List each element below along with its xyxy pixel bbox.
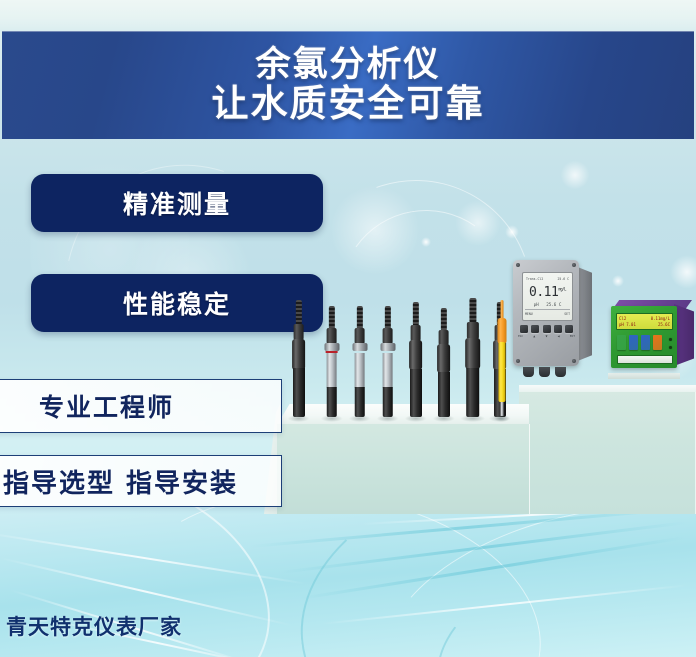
bokeh-dot: [505, 225, 519, 239]
controller-key-4[interactable]: [653, 335, 662, 350]
info-box-engineer[interactable]: 专业工程师: [0, 379, 282, 433]
top-strip: [0, 0, 696, 31]
probe-5[interactable]: [408, 302, 423, 418]
lcd-top-right: 25.6 C: [557, 277, 569, 281]
controller-label-slot: [617, 355, 673, 364]
lcd-row2-right: 25.6 C: [546, 302, 561, 307]
gc-lcd-line1-left: Cl2: [619, 316, 626, 321]
probe-part: [320, 415, 343, 422]
probe-part: [356, 306, 362, 330]
controller-face: Cl2 0.11mg/L pH 7.01 25.6C: [611, 306, 677, 368]
controller-led-group: [669, 338, 672, 349]
probe-part: [326, 328, 337, 344]
info-box-label: 指导选型 指导安装: [0, 463, 238, 500]
led-indicator-icon: [669, 338, 672, 341]
screw-icon: [516, 359, 520, 363]
lcd-row2-left: pH: [534, 302, 539, 307]
probe-part: [295, 300, 301, 325]
probe-part: [409, 340, 423, 370]
probe-part: [432, 415, 455, 422]
probe-4[interactable]: [380, 306, 395, 418]
transmitter-key-◀[interactable]: [554, 325, 562, 333]
probe-part: [382, 353, 393, 388]
probe-part: [437, 344, 451, 373]
transmitter-key-label: ▲: [533, 335, 535, 338]
probe-part: [352, 343, 367, 351]
probe-part: [465, 338, 481, 369]
controller-base: [608, 373, 680, 379]
cable-gland-icon: [523, 367, 534, 377]
lcd-bottom-left: MENU: [525, 312, 533, 316]
transmitter-face: Trans.Cl2 25.6 C 0.11mg/L pH 25.6 C MENU…: [513, 260, 579, 366]
badge-label: 精准测量: [123, 185, 231, 221]
cable-gland-icon: [555, 367, 566, 377]
cable-gland-icon: [539, 367, 550, 377]
probe-part: [495, 415, 510, 422]
transmitter-key-ent[interactable]: [565, 325, 573, 333]
info-box-label: 专业工程师: [0, 388, 174, 424]
transmitter-key-label: ENT: [570, 335, 575, 338]
probe-part: [328, 306, 334, 330]
banner-title-line1: 余氯分析仪: [255, 47, 440, 83]
probe-part: [292, 339, 306, 370]
probe-part: [438, 330, 449, 345]
controller-side: [674, 304, 694, 366]
screw-icon: [516, 263, 520, 267]
probe-part: [501, 300, 504, 320]
poster-canvas: 余氯分析仪 让水质安全可靠 精准测量 性能稳定: [0, 0, 696, 657]
probe-part: [354, 328, 365, 344]
transmitter-key-label: ◀: [558, 335, 560, 338]
probe-part: [438, 372, 450, 417]
probe-part: [498, 318, 507, 344]
transmitter-key-esc[interactable]: [520, 325, 528, 333]
probe-6[interactable]: [436, 308, 451, 418]
probe-part: [287, 415, 310, 422]
controller-key-1[interactable]: [617, 335, 626, 350]
probe-part: [501, 402, 504, 416]
probe-part: [466, 368, 480, 417]
probe-part: [293, 324, 304, 341]
controller-lcd: Cl2 0.11mg/L pH 7.01 25.6C: [616, 313, 673, 330]
probe-1[interactable]: [291, 300, 306, 418]
info-box-guidance[interactable]: 指导选型 指导安装: [0, 455, 282, 507]
bokeh-circle: [560, 160, 590, 190]
lcd-top-left: Trans.Cl2: [526, 277, 543, 281]
transmitter-key-label: ▼: [545, 335, 547, 338]
bokeh-circle: [330, 185, 420, 275]
led-indicator-icon: [669, 346, 672, 349]
probe-part: [404, 415, 427, 422]
gc-lcd-line2-right: 25.6C: [658, 322, 670, 327]
lcd-bottom-right: SET: [564, 312, 570, 316]
transmitter-key-label: ESC: [518, 335, 523, 338]
probe-3[interactable]: [352, 306, 367, 418]
bokeh-dot: [421, 237, 431, 247]
probe-2[interactable]: [324, 306, 339, 418]
probe-part: [466, 322, 478, 339]
controller-button-row[interactable]: [617, 335, 662, 350]
badge-accurate-measurement[interactable]: 精准测量: [31, 174, 323, 232]
footer-brand: 青天特克仪表厂家: [6, 611, 182, 641]
probe-part: [469, 298, 476, 323]
gc-lcd-line2-left: pH 7.01: [619, 322, 636, 327]
probe-part: [382, 387, 393, 417]
probe-part: [410, 325, 421, 341]
controller-key-3[interactable]: [641, 335, 650, 350]
probe-part: [380, 343, 395, 351]
pedestal-back: [519, 392, 696, 514]
transmitter-lcd: Trans.Cl2 25.6 C 0.11mg/L pH 25.6 C MENU…: [522, 272, 573, 321]
transmitter-button-labels: ESC▲▼◀ENT: [518, 335, 575, 338]
bokeh-dot: [612, 275, 624, 287]
probe-part: [376, 415, 399, 422]
probe-part: [326, 353, 337, 388]
probe-part: [460, 415, 486, 422]
probe-part: [293, 368, 305, 416]
lcd-unit: mg/L: [558, 287, 566, 292]
probe-part: [324, 343, 339, 351]
pedestal-front: [277, 424, 530, 514]
transmitter-key-▼[interactable]: [543, 325, 551, 333]
badge-label: 性能稳定: [123, 285, 231, 321]
probe-part: [354, 353, 365, 388]
probe-part: [382, 328, 393, 344]
probe-7[interactable]: [464, 298, 481, 418]
gc-lcd-line1-right: 0.11mg/L: [651, 316, 670, 321]
probe-part: [440, 308, 446, 331]
bokeh-circle: [455, 200, 501, 246]
screw-icon: [572, 359, 576, 363]
transmitter-button-row[interactable]: [520, 325, 573, 333]
screw-icon: [572, 263, 576, 267]
lcd-value: 0.11: [529, 285, 558, 300]
probe-part: [326, 387, 337, 417]
probe-part: [384, 306, 390, 330]
badge-stable-performance[interactable]: 性能稳定: [31, 274, 323, 332]
probe-9[interactable]: [497, 300, 507, 418]
probe-part: [412, 302, 418, 326]
probe-part: [410, 369, 422, 417]
green-controller[interactable]: Cl2 0.11mg/L pH 7.01 25.6C: [608, 300, 694, 374]
banner-title-line2: 让水质安全可靠: [212, 85, 485, 123]
probe-part: [499, 342, 506, 402]
chlorine-transmitter[interactable]: Trans.Cl2 25.6 C 0.11mg/L pH 25.6 C MENU…: [513, 258, 591, 370]
header-banner: 余氯分析仪 让水质安全可靠: [2, 31, 694, 139]
probe-part: [354, 387, 365, 417]
bokeh-circle: [670, 255, 696, 289]
controller-key-2[interactable]: [629, 335, 638, 350]
probe-part: [348, 415, 371, 422]
transmitter-key-▲[interactable]: [531, 325, 539, 333]
